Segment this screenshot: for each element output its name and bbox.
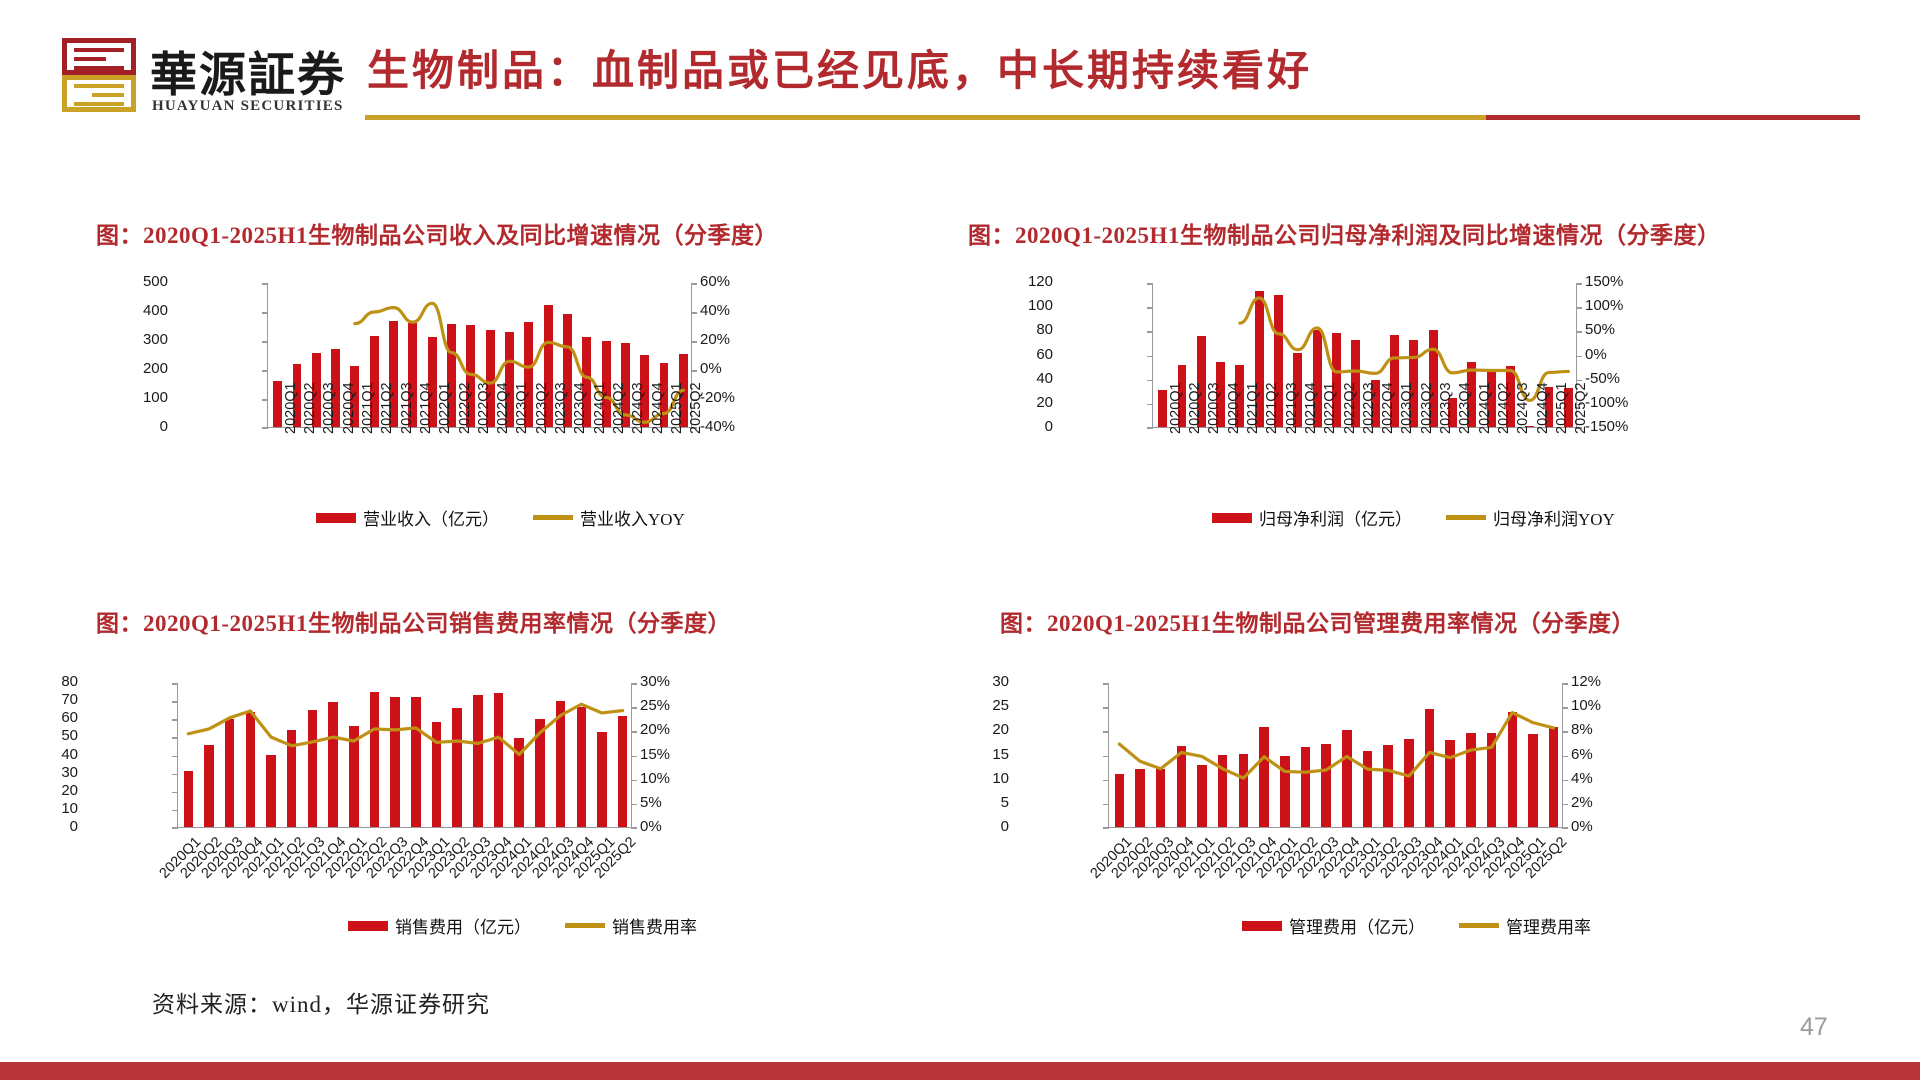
legend-bar-swatch-icon [1242,921,1282,931]
y2-axis-tick-label: 0% [1571,818,1641,835]
y-axis-tick-label: 10 [949,770,1009,787]
legend-item-bar: 管理费用（亿元） [1242,913,1425,938]
chart-caption: 图：2020Q1-2025H1生物制品公司管理费用率情况（分季度） [1000,604,1635,638]
y2-axis-tick-label: 10% [1571,697,1641,714]
chart-legend: 管理费用（亿元）管理费用率 [1242,913,1591,938]
y2-axis-tick-label: 6% [1571,746,1641,763]
plot-area [1108,683,1563,828]
y-axis-tick-label: 30 [949,673,1009,690]
y-axis-tick-label: 25 [949,697,1009,714]
y2-axis-tick-label: 12% [1571,673,1641,690]
legend-bar-label: 管理费用（亿元） [1289,913,1425,938]
y-axis-tick-label: 15 [949,746,1009,763]
y2-axis-tick-label: 8% [1571,721,1641,738]
page-number: 47 [1800,1013,1828,1042]
y2-axis-tick-label: 2% [1571,794,1641,811]
y-axis-tick-label: 20 [949,721,1009,738]
y-axis-tick-label: 5 [949,794,1009,811]
line-series-layer [1109,683,1564,828]
footer-accent-bar [0,1062,1920,1080]
line-series-path [1119,713,1553,779]
chart-panel-4: 图：2020Q1-2025H1生物制品公司管理费用率情况（分季度）0510152… [0,0,1920,1080]
legend-line-swatch-icon [1459,923,1499,928]
y-axis-tick-label: 0 [949,818,1009,835]
source-note: 资料来源：wind，华源证券研究 [152,985,490,1019]
legend-line-label: 管理费用率 [1506,913,1591,938]
y2-axis-tick-label: 4% [1571,770,1641,787]
legend-item-line: 管理费用率 [1459,913,1591,938]
